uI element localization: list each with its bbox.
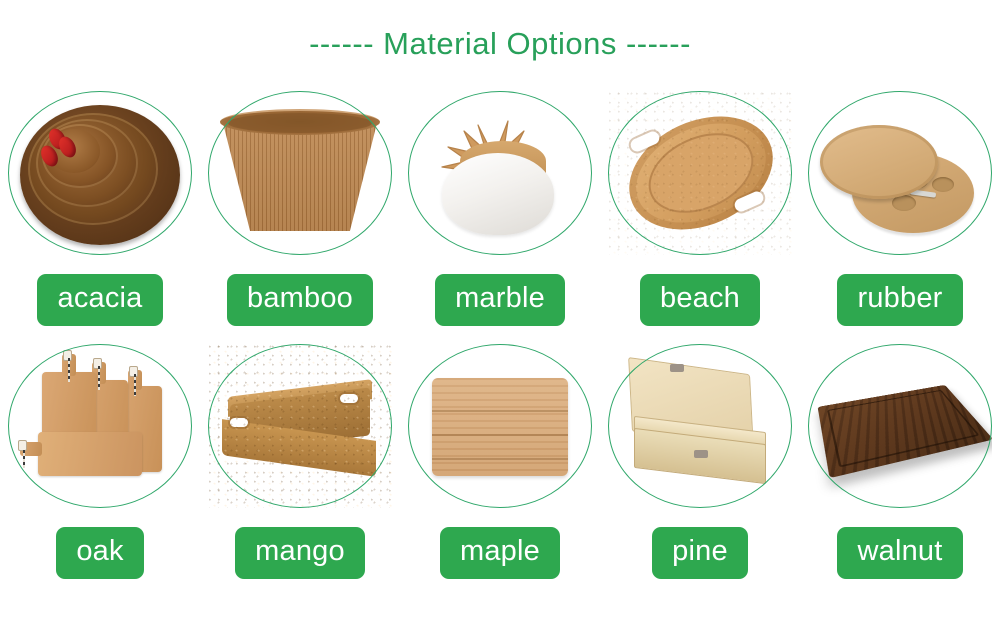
material-label-mango[interactable]: mango	[235, 527, 365, 579]
material-option-acacia[interactable]: acacia	[0, 88, 200, 341]
acacia-ellipse-outline	[8, 91, 192, 255]
material-label-rubber[interactable]: rubber	[837, 274, 962, 326]
material-row-1: acacia bamboo	[0, 88, 1000, 341]
acacia-image-frame	[8, 91, 192, 255]
oak-ellipse-outline	[8, 344, 192, 508]
material-label-walnut[interactable]: walnut	[837, 527, 962, 579]
marble-image-frame	[408, 91, 592, 255]
beach-ellipse-outline	[608, 91, 792, 255]
material-label-maple[interactable]: maple	[440, 527, 560, 579]
material-row-2: oak	[0, 341, 1000, 594]
bamboo-ellipse-outline	[208, 91, 392, 255]
maple-ellipse-outline	[408, 344, 592, 508]
material-option-beach[interactable]: beach	[600, 88, 800, 341]
marble-ellipse-outline	[408, 91, 592, 255]
material-label-pine[interactable]: pine	[652, 527, 748, 579]
material-label-beach[interactable]: beach	[640, 274, 760, 326]
pine-image-frame	[608, 344, 792, 508]
mango-ellipse-outline	[208, 344, 392, 508]
material-option-bamboo[interactable]: bamboo	[200, 88, 400, 341]
material-option-walnut[interactable]: walnut	[800, 341, 1000, 594]
rubber-ellipse-outline	[808, 91, 992, 255]
material-option-pine[interactable]: pine	[600, 341, 800, 594]
walnut-ellipse-outline	[808, 344, 992, 508]
material-option-maple[interactable]: maple	[400, 341, 600, 594]
material-label-bamboo[interactable]: bamboo	[227, 274, 373, 326]
material-option-mango[interactable]: mango	[200, 341, 400, 594]
material-option-oak[interactable]: oak	[0, 341, 200, 594]
page-title: ------ Material Options ------	[0, 26, 1000, 62]
pine-ellipse-outline	[608, 344, 792, 508]
material-option-marble[interactable]: marble	[400, 88, 600, 341]
maple-image-frame	[408, 344, 592, 508]
bamboo-image-frame	[208, 91, 392, 255]
material-label-acacia[interactable]: acacia	[37, 274, 162, 326]
material-option-rubber[interactable]: rubber	[800, 88, 1000, 341]
material-label-oak[interactable]: oak	[56, 527, 143, 579]
walnut-image-frame	[808, 344, 992, 508]
rubber-image-frame	[808, 91, 992, 255]
beach-image-frame	[608, 91, 792, 255]
material-label-marble[interactable]: marble	[435, 274, 565, 326]
oak-image-frame	[8, 344, 192, 508]
material-options-grid: acacia bamboo	[0, 88, 1000, 594]
mango-image-frame	[208, 344, 392, 508]
material-options-page: ------ Material Options ------	[0, 0, 1000, 634]
